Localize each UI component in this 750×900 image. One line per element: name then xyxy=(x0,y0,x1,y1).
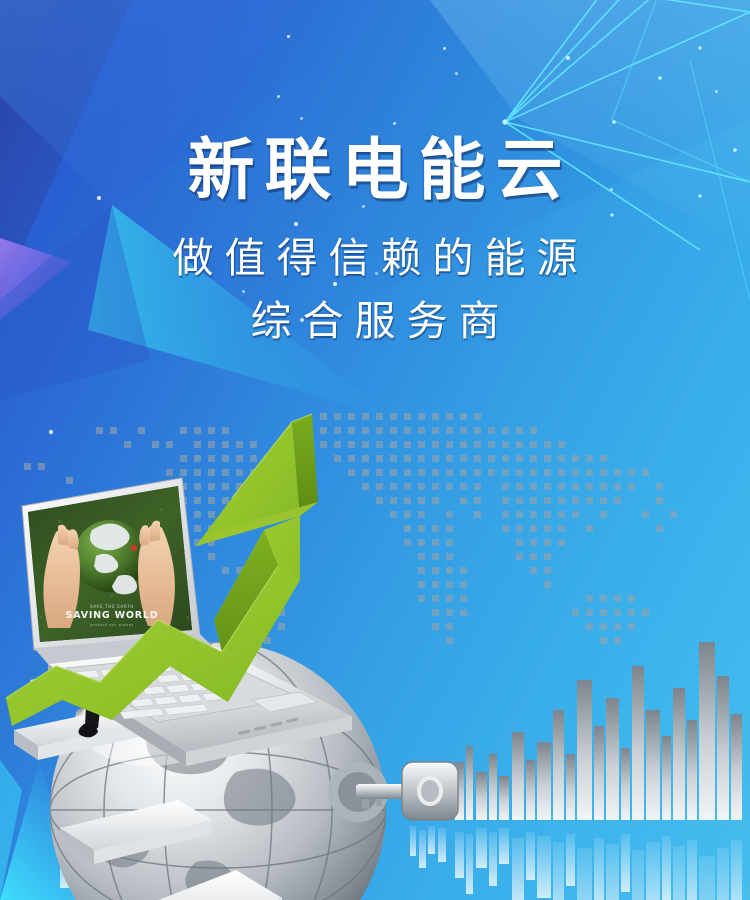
page-title: 新联电能云 xyxy=(0,132,750,208)
subtitle-line-1: 做值得信赖的能源 xyxy=(0,232,750,285)
screen-caption-above: SAVE THE EARTH xyxy=(90,604,134,609)
screen-caption: SAVING WORLD xyxy=(66,610,159,621)
poster-text-block: 新联电能云 做值得信赖的能源 综合服务商 xyxy=(0,132,750,348)
net-line-8 xyxy=(612,0,660,120)
net-line-2 xyxy=(505,0,628,122)
hero-artwork: SAVE THE EARTH SAVING WORLD protect our … xyxy=(0,380,750,900)
subtitle-line-2: 综合服务商 xyxy=(0,295,750,348)
net-line-7 xyxy=(604,0,750,12)
screen-caption-below: protect our planet xyxy=(90,622,133,627)
net-line-4 xyxy=(505,12,750,122)
promo-banner: 新联电能云 做值得信赖的能源 综合服务商 xyxy=(0,0,750,900)
net-line-1 xyxy=(505,0,604,122)
